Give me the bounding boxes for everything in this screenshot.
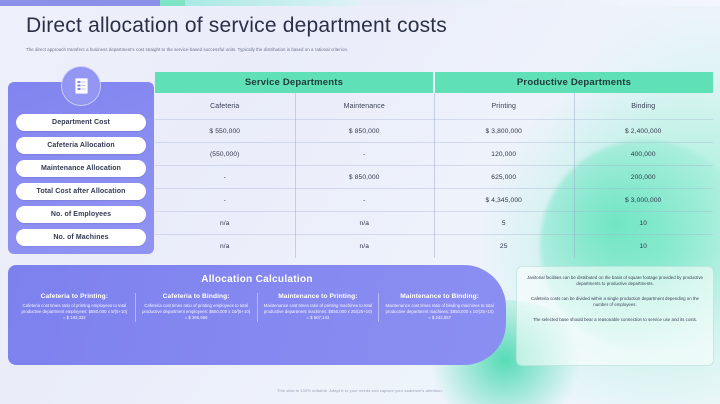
calc-body: Maintenance cost times ratio of printing… [264, 303, 373, 322]
table-divider-3 [574, 93, 575, 258]
row-label-total-cost-after-allocation[interactable]: Total Cost after Allocation [16, 183, 146, 200]
cell-r4c2: 5 [434, 212, 574, 234]
allocation-calculation-panel: Allocation Calculation Cafeteria to Prin… [8, 265, 506, 365]
row-label-department-cost[interactable]: Department Cost [16, 114, 146, 131]
cell-r5c2: 25 [434, 235, 574, 257]
cell-r2c1: $ 850,000 [295, 166, 435, 188]
group-header-productive: Productive Departments [433, 72, 713, 93]
calc-heading: Cafeteria to Binding: [142, 293, 251, 300]
top-accent-bar-green [160, 0, 185, 6]
cell-r3c3: $ 3,000,000 [574, 189, 714, 211]
cell-r1c3: 400,000 [574, 143, 714, 165]
cell-r5c0: n/a [155, 235, 295, 257]
calc-heading: Maintenance to Binding: [385, 293, 494, 300]
notes-panel: Janitorial facilities can be distributed… [516, 266, 714, 366]
cell-r0c2: $ 3,800,000 [434, 120, 574, 142]
cell-r4c0: n/a [155, 212, 295, 234]
top-accent-bar-teal [185, 0, 360, 6]
column-header-maintenance: Maintenance [295, 93, 435, 119]
note-item: Cafeteria costs can be divided within a … [525, 296, 705, 309]
cell-r5c3: 10 [574, 235, 714, 257]
calc-cafeteria-to-printing: Cafeteria to Printing: Cafeteria cost ti… [14, 293, 135, 322]
cell-r0c3: $ 2,400,000 [574, 120, 714, 142]
slide-footer: This slide is 100% editable. Adapt it to… [0, 388, 720, 393]
cell-r1c2: 120,000 [434, 143, 574, 165]
row-label-no-of-machines[interactable]: No. of Machines [16, 229, 146, 246]
top-accent-bar-light [360, 0, 720, 6]
row-label-no-of-employees[interactable]: No. of Employees [16, 206, 146, 223]
row-label-maintenance-allocation[interactable]: Maintenance Allocation [16, 160, 146, 177]
cell-r4c1: n/a [295, 212, 435, 234]
cell-r3c2: $ 4,345,000 [434, 189, 574, 211]
table-group-header-row: Service Departments Productive Departmen… [155, 72, 713, 93]
table-divider-1 [295, 93, 296, 258]
cell-r5c1: n/a [295, 235, 435, 257]
cell-r2c3: 200,000 [574, 166, 714, 188]
calc-heading: Cafeteria to Printing: [20, 293, 129, 300]
document-list-icon [61, 66, 101, 106]
allocation-table: Service Departments Productive Departmen… [155, 72, 713, 257]
note-item: The selected base should bear a reasonab… [525, 317, 705, 323]
page-title: Direct allocation of service department … [26, 14, 700, 38]
column-header-cafeteria: Cafeteria [155, 93, 295, 119]
column-header-printing: Printing [434, 93, 574, 119]
row-label-list: Department Cost Cafeteria Allocation Mai… [8, 114, 154, 246]
calc-body: Cafeteria cost times ratio of printing e… [20, 303, 129, 322]
cell-r0c1: $ 850,000 [295, 120, 435, 142]
calc-heading: Maintenance to Printing: [264, 293, 373, 300]
calculation-columns: Cafeteria to Printing: Cafeteria cost ti… [8, 293, 506, 322]
calc-cafeteria-to-binding: Cafeteria to Binding: Cafeteria cost tim… [135, 293, 257, 322]
cell-r2c2: 625,000 [434, 166, 574, 188]
row-label-panel: Department Cost Cafeteria Allocation Mai… [8, 82, 154, 254]
group-header-service: Service Departments [155, 72, 433, 93]
calculation-panel-title: Allocation Calculation [8, 265, 506, 285]
cell-r1c1: - [295, 143, 435, 165]
cell-r2c0: - [155, 166, 295, 188]
page-subtitle: The direct approach transfers a business… [26, 47, 700, 53]
cell-r0c0: $ 550,000 [155, 120, 295, 142]
cell-r1c0: (550,000) [155, 143, 295, 165]
row-label-cafeteria-allocation[interactable]: Cafeteria Allocation [16, 137, 146, 154]
calc-maintenance-to-binding: Maintenance to Binding: Maintenance cost… [378, 293, 500, 322]
table-divider-2 [434, 93, 435, 258]
column-header-binding: Binding [574, 93, 714, 119]
calc-maintenance-to-printing: Maintenance to Printing: Maintenance cos… [257, 293, 379, 322]
cell-r3c1: - [295, 189, 435, 211]
cell-r4c3: 10 [574, 212, 714, 234]
top-accent-bar-purple [0, 0, 160, 6]
slide-canvas: Direct allocation of service department … [0, 0, 720, 404]
calc-body: Cafeteria cost times ratio of printing e… [142, 303, 251, 322]
cell-r3c0: - [155, 189, 295, 211]
calc-body: Maintenance cost times ratio of binding … [385, 303, 494, 322]
note-item: Janitorial facilities can be distributed… [525, 275, 705, 288]
slide-header: Direct allocation of service department … [26, 14, 700, 53]
